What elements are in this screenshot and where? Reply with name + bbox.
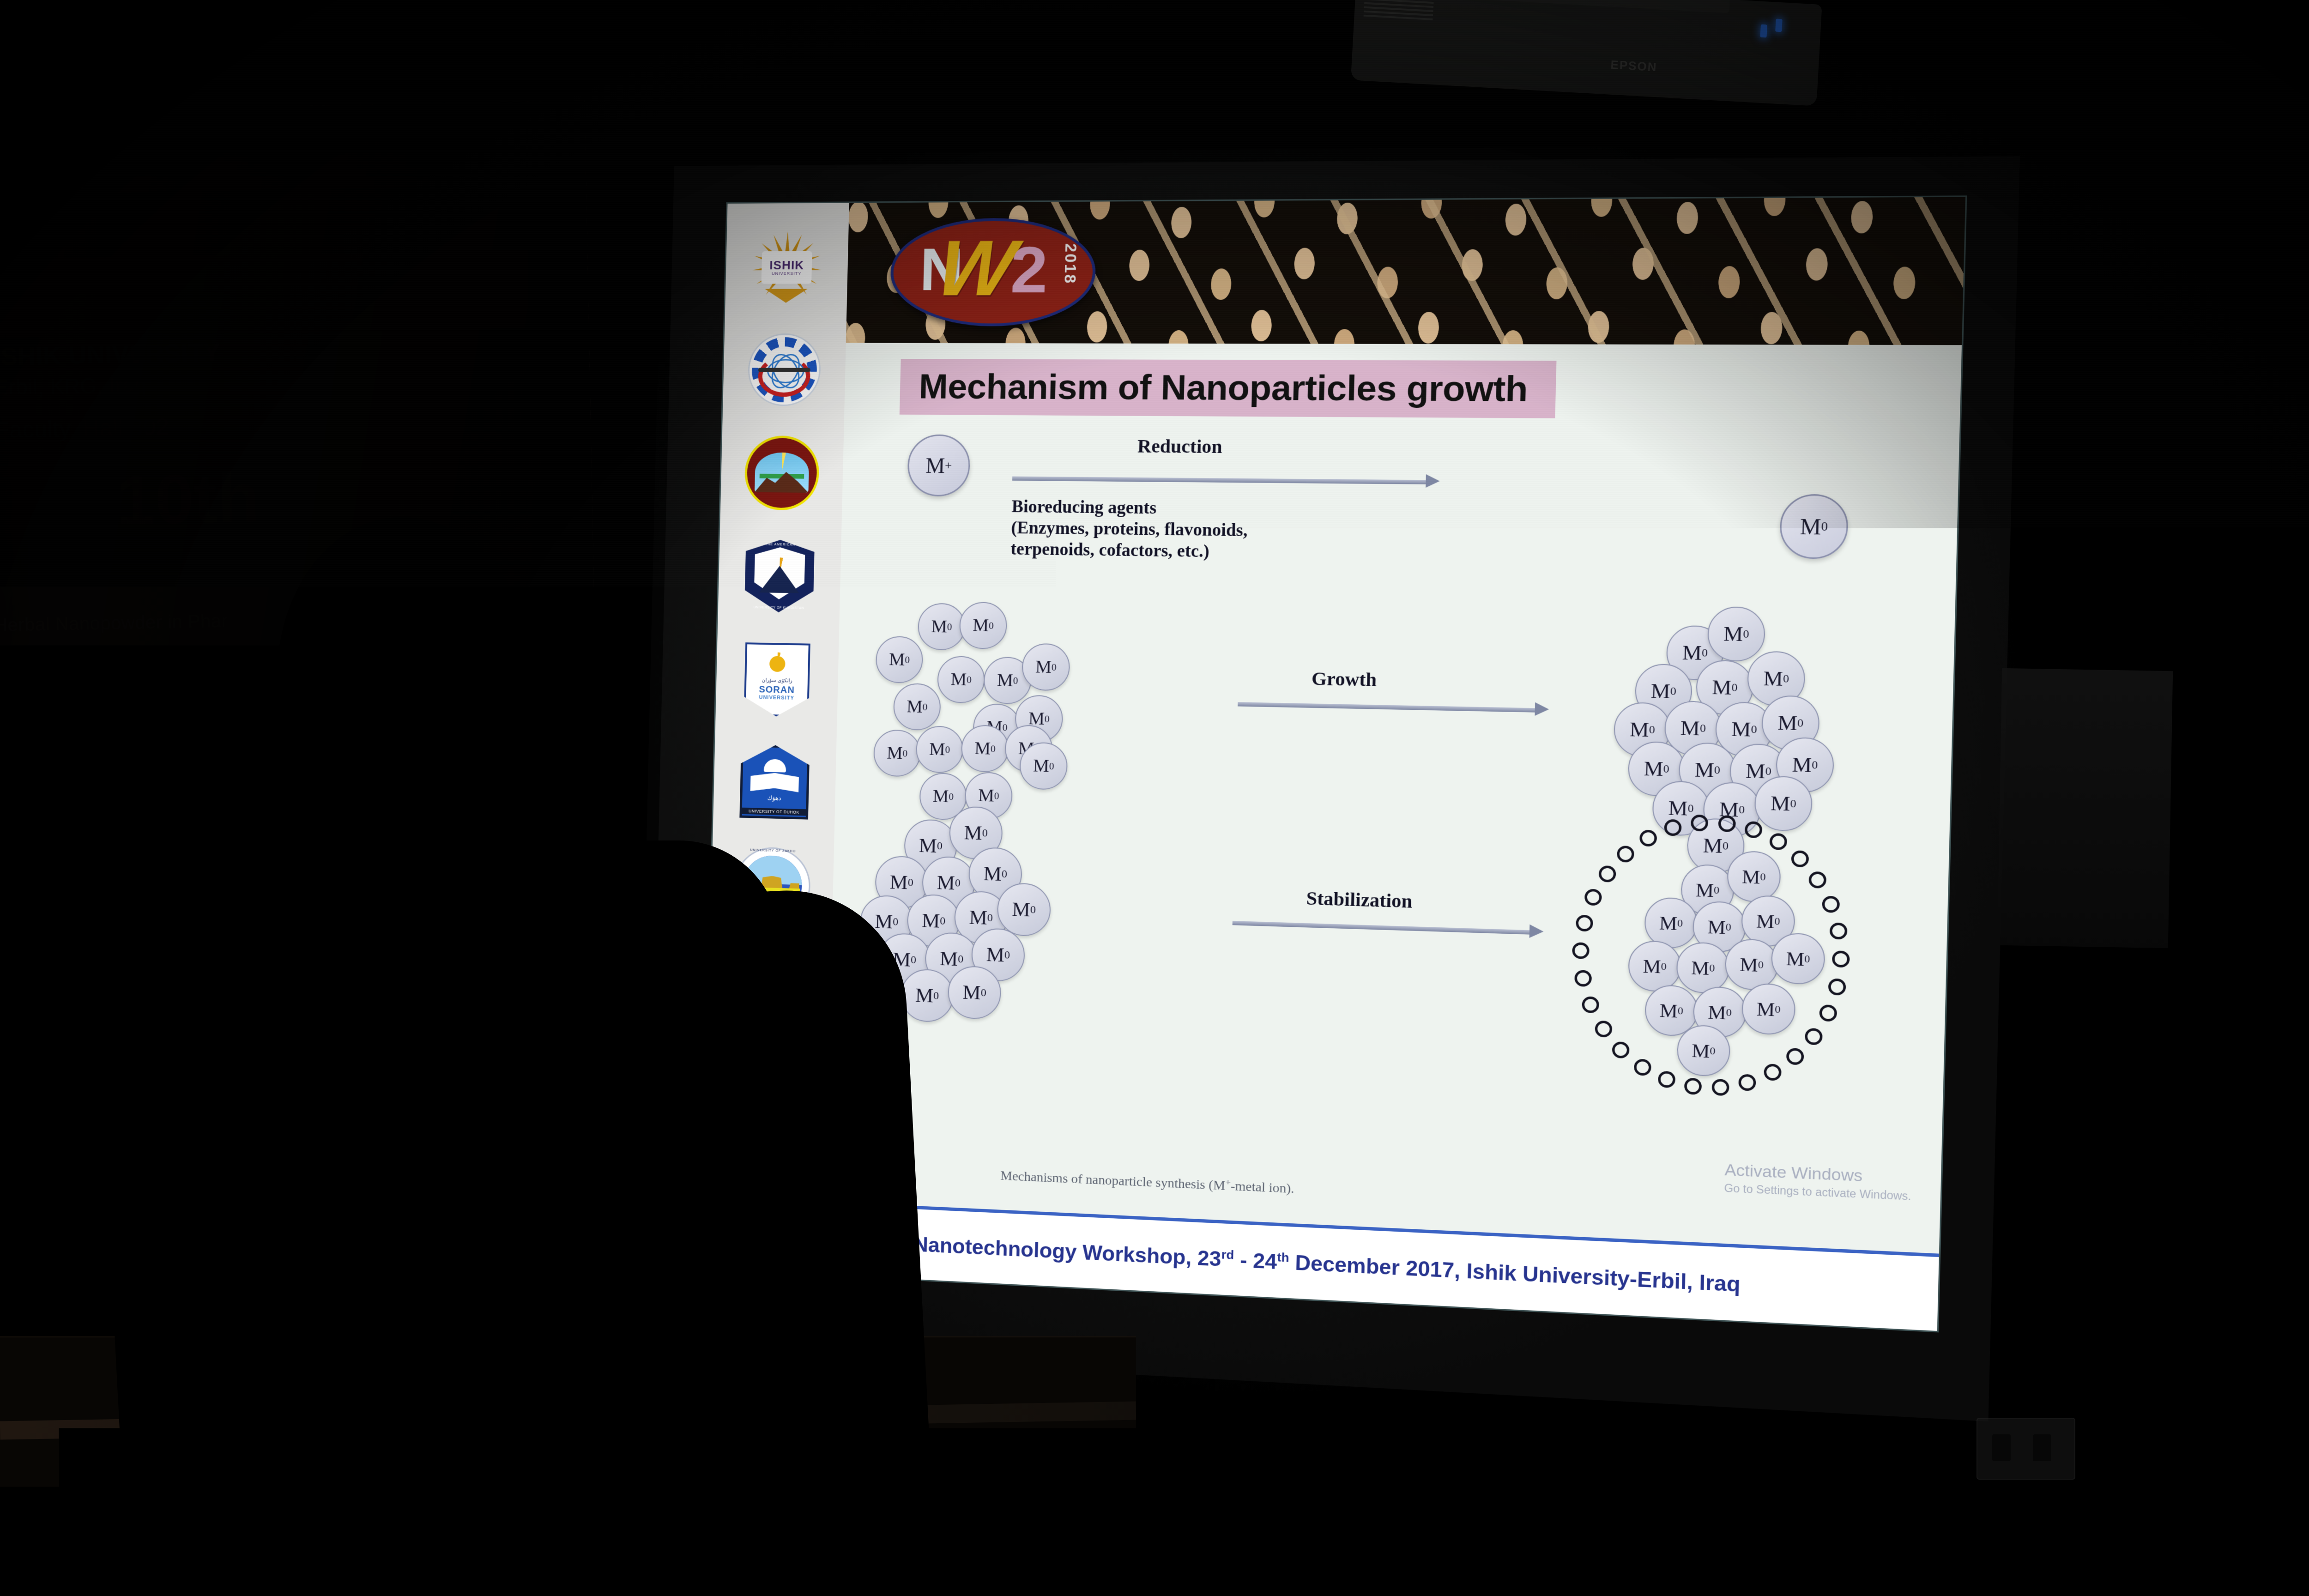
slide-header-banner: N W 2 2018 xyxy=(846,197,1965,345)
footer-tail: December 2017, Ishik University-Erbil, I… xyxy=(1289,1251,1741,1296)
projector-body: EPSON xyxy=(1351,0,1822,106)
presenter-hand xyxy=(522,1090,637,1228)
ion-left-symbol: M xyxy=(925,453,945,478)
reduction-arrow-label: Reduction xyxy=(1137,435,1222,458)
footer-sup-1: rd xyxy=(1221,1247,1234,1262)
footer-sup-2: th xyxy=(1277,1250,1289,1264)
growth-arrow-icon xyxy=(1238,700,1549,713)
projector-brand-label: EPSON xyxy=(1610,58,1658,75)
nw-logo-letter-w: W xyxy=(932,229,1021,308)
metal-ion-circle: M+ xyxy=(907,434,971,496)
slide-title-bar: Mechanism of Nanoparticles growth xyxy=(900,359,1557,418)
presenter-body xyxy=(134,840,780,1596)
nanoparticle: M0 xyxy=(1727,851,1781,903)
ion-right-charge: 0 xyxy=(1821,519,1828,534)
stabilization-arrow-icon xyxy=(1233,919,1544,936)
stabilization-arrow-label: Stabilization xyxy=(1306,887,1413,913)
growth-arrow-label: Growth xyxy=(1312,667,1377,691)
windows-activation-watermark: Activate Windows Go to Settings to activ… xyxy=(1724,1161,1912,1203)
presenter-silhouette xyxy=(83,490,1090,1596)
ion-right-symbol: M xyxy=(1800,514,1821,540)
conference-room-scene: ISHIK UNIVERSITY Erbil, KRG, Iraq Facult… xyxy=(0,0,2309,1596)
footer-mid-2: - 24 xyxy=(1234,1248,1277,1273)
projector-status-led xyxy=(1760,24,1767,38)
wall-panel xyxy=(1997,668,2173,948)
page-title: Mechanism of Nanoparticles growth xyxy=(919,367,1528,410)
projector-power-led xyxy=(1775,19,1783,32)
caption-tail: -metal ion). xyxy=(1230,1179,1294,1196)
reduction-arrow-icon xyxy=(1012,474,1440,485)
nw-logo-year: 2018 xyxy=(1060,243,1080,285)
ion-left-charge: + xyxy=(945,459,952,473)
caption-superscript: + xyxy=(1225,1177,1231,1187)
nanoparticle: M0 xyxy=(1771,932,1825,985)
presenter-head xyxy=(277,517,536,813)
nanoparticle: M0 xyxy=(1707,606,1765,662)
ministry-emblem-logo-icon xyxy=(744,331,824,409)
nanoparticle: M0 xyxy=(1741,983,1796,1035)
slide-title-area: Mechanism of Nanoparticles growth xyxy=(844,343,1962,421)
nw-logo-number: 2 xyxy=(1010,237,1049,303)
metal-atom-circle: M0 xyxy=(1779,494,1849,560)
presenter-nose xyxy=(513,642,573,697)
ishik-logo-name: ISHIK xyxy=(769,259,804,271)
ishik-university-logo-icon: ISHIK UNIVERSITY xyxy=(747,227,827,306)
ishik-logo-sub: UNIVERSITY xyxy=(772,271,802,276)
power-outlet xyxy=(1977,1418,2075,1480)
